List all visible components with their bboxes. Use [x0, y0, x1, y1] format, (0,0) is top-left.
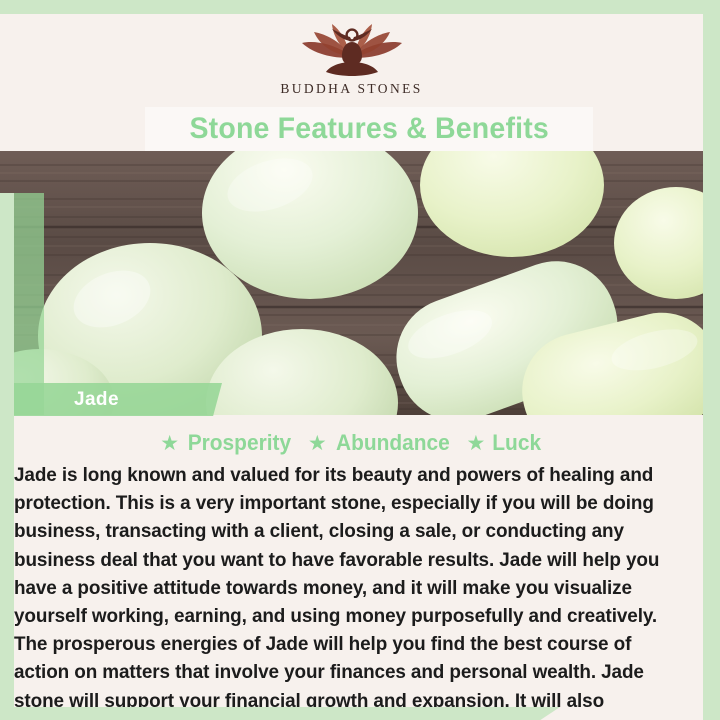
keyword-luck: ★ Luck — [467, 430, 543, 456]
keyword-label: Prosperity — [188, 430, 291, 456]
frame-bottom-band — [0, 707, 560, 720]
jade-stones-photo — [0, 151, 703, 415]
frame-left-band — [0, 193, 14, 720]
title-banner: Stone Features & Benefits — [145, 107, 593, 151]
keyword-row: ★ Prosperity ★ Abundance ★ Luck — [0, 430, 703, 456]
stone-name: Jade — [74, 389, 119, 411]
keyword-label: Abundance — [336, 430, 450, 456]
keyword-abundance: ★ Abundance — [308, 430, 453, 456]
stone-name-band: Jade — [0, 383, 222, 416]
star-icon: ★ — [308, 433, 327, 454]
brand-header: BUDDHA STONES — [0, 14, 703, 106]
star-icon: ★ — [467, 433, 486, 454]
stone-features-infographic: BUDDHA STONES Stone Features & Benefits — [0, 0, 720, 720]
star-icon: ★ — [160, 433, 179, 454]
frame-top-band — [0, 0, 720, 14]
stone-description: Jade is long known and valued for its be… — [14, 461, 677, 720]
page-title: Stone Features & Benefits — [189, 112, 549, 146]
photo-graphic — [0, 151, 703, 415]
brand-logo: BUDDHA STONES — [0, 18, 703, 97]
lotus-meditation-figure-icon — [288, 18, 416, 80]
frame-right-band — [703, 0, 720, 720]
keyword-prosperity: ★ Prosperity — [160, 430, 294, 456]
brand-name: BUDDHA STONES — [280, 81, 422, 97]
keyword-label: Luck — [493, 430, 542, 456]
